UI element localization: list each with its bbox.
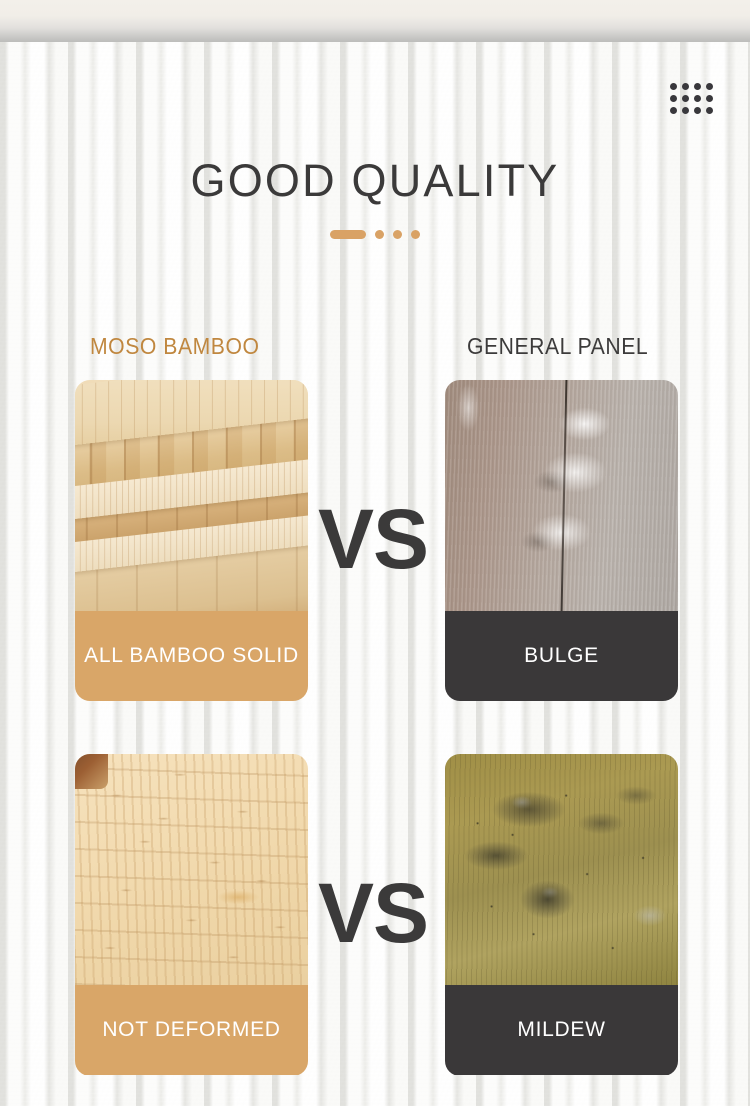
column-header-general-panel: GENERAL PANEL bbox=[467, 333, 648, 360]
dot bbox=[694, 95, 701, 102]
dot bbox=[670, 83, 677, 90]
vs-badge-row-1: VS bbox=[318, 497, 428, 581]
dot bbox=[682, 83, 689, 90]
product-detail-page: GOOD QUALITY MOSO BAMBOO GENERAL PANEL A… bbox=[0, 0, 750, 1106]
dot bbox=[694, 107, 701, 114]
divider-dot bbox=[375, 230, 384, 239]
divider-dot bbox=[411, 230, 420, 239]
image-panel-mildew bbox=[445, 754, 678, 985]
card-label: MILDEW bbox=[445, 985, 678, 1075]
dot bbox=[706, 83, 713, 90]
dot bbox=[706, 107, 713, 114]
card-all-bamboo-solid[interactable]: ALL BAMBOO SOLID bbox=[75, 380, 308, 701]
image-bamboo-stack bbox=[75, 380, 308, 611]
title-divider bbox=[0, 230, 750, 239]
mildew-specks bbox=[445, 754, 678, 985]
dot bbox=[694, 83, 701, 90]
image-bamboo-flat bbox=[75, 754, 308, 985]
column-header-moso-bamboo: MOSO BAMBOO bbox=[90, 333, 259, 360]
card-bulge[interactable]: BULGE bbox=[445, 380, 678, 701]
dot bbox=[706, 95, 713, 102]
card-mildew[interactable]: MILDEW bbox=[445, 754, 678, 1076]
card-not-deformed[interactable]: NOT DEFORMED bbox=[75, 754, 308, 1076]
dot bbox=[682, 95, 689, 102]
dot bbox=[670, 107, 677, 114]
dots-grid-icon[interactable] bbox=[670, 83, 713, 114]
card-label: BULGE bbox=[445, 611, 678, 701]
bamboo-node-marks bbox=[75, 754, 308, 985]
divider-dot bbox=[393, 230, 402, 239]
dot bbox=[682, 107, 689, 114]
card-label: NOT DEFORMED bbox=[75, 985, 308, 1075]
page-title: GOOD QUALITY bbox=[0, 155, 750, 207]
dot bbox=[670, 95, 677, 102]
divider-bar bbox=[330, 230, 366, 239]
top-gradient-band bbox=[0, 0, 750, 42]
image-panel-bulge bbox=[445, 380, 678, 611]
card-label: ALL BAMBOO SOLID bbox=[75, 611, 308, 701]
vs-badge-row-2: VS bbox=[318, 871, 428, 955]
